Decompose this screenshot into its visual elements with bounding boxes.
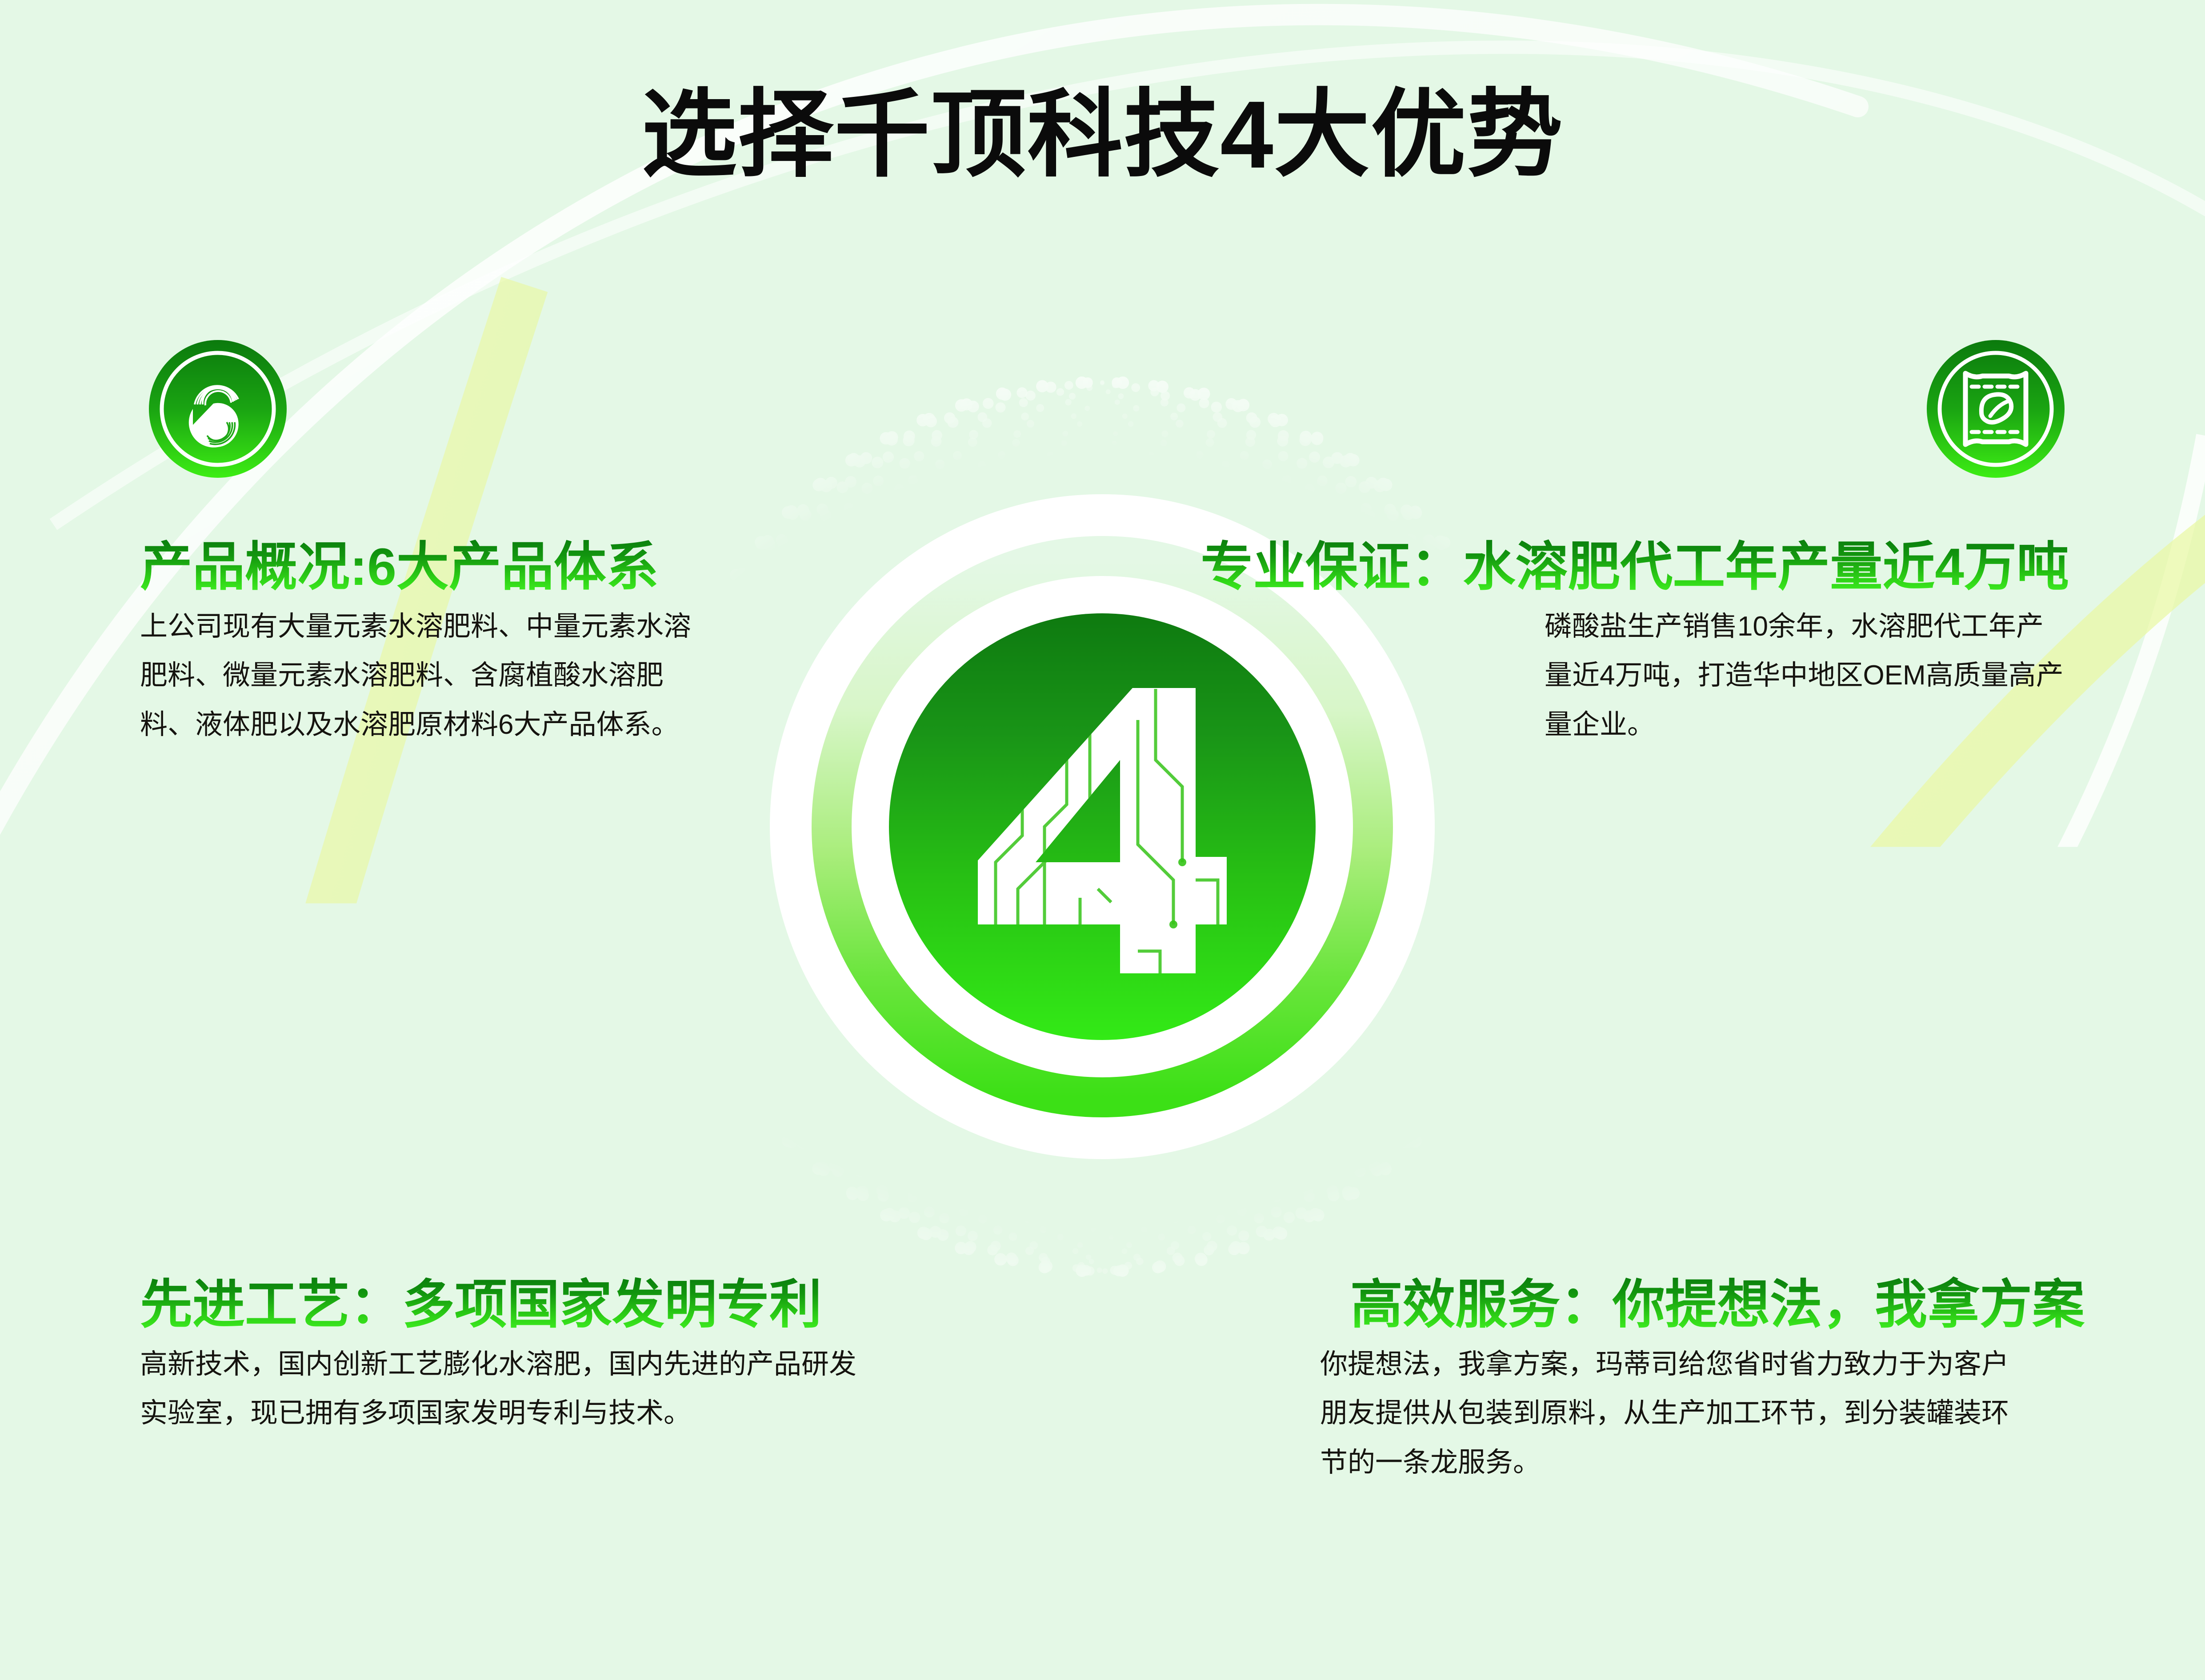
feature-body: 上公司现有大量元素水溶肥料、中量元素水溶肥料、微量元素水溶肥料、含腐植酸水溶肥料… xyxy=(140,602,696,749)
feature-body: 磷酸盐生产销售10余年，水溶肥代工年产量近4万吨，打造华中地区OEM高质量高产量… xyxy=(1545,602,2069,749)
number-six-badge-icon xyxy=(147,338,289,480)
page-title: 选择千顶科技4大优势 xyxy=(0,84,2205,185)
feature-body: 你提想法，我拿方案，玛蒂司给您省时省力致力于为客户朋友提供从包装到原料，从生产加… xyxy=(1320,1340,2022,1487)
center-core-circle xyxy=(889,613,1316,1040)
feature-heading: 先进工艺：多项国家发明专利 xyxy=(140,1276,822,1334)
center-medallion xyxy=(787,511,1418,1142)
feature-body: 高新技术，国内创新工艺膨化水溶肥，国内先进的产品研发实验室，现已拥有多项国家发明… xyxy=(140,1340,869,1438)
feature-heading: 专业保证：水溶肥代工年产量近4万吨 xyxy=(1201,538,2069,596)
meeting-team-icon xyxy=(1938,1084,2080,1227)
fertilizer-bag-icon xyxy=(1925,338,2067,480)
atom-icon xyxy=(147,1084,289,1227)
feature-heading: 高效服务：你提想法，我拿方案 xyxy=(1350,1276,2085,1334)
feature-heading: 产品概况:6大产品体系 xyxy=(140,538,659,596)
center-number-4-graphic xyxy=(889,613,1316,1040)
infographic-canvas: 选择千顶科技4大优势 xyxy=(0,0,2205,1680)
